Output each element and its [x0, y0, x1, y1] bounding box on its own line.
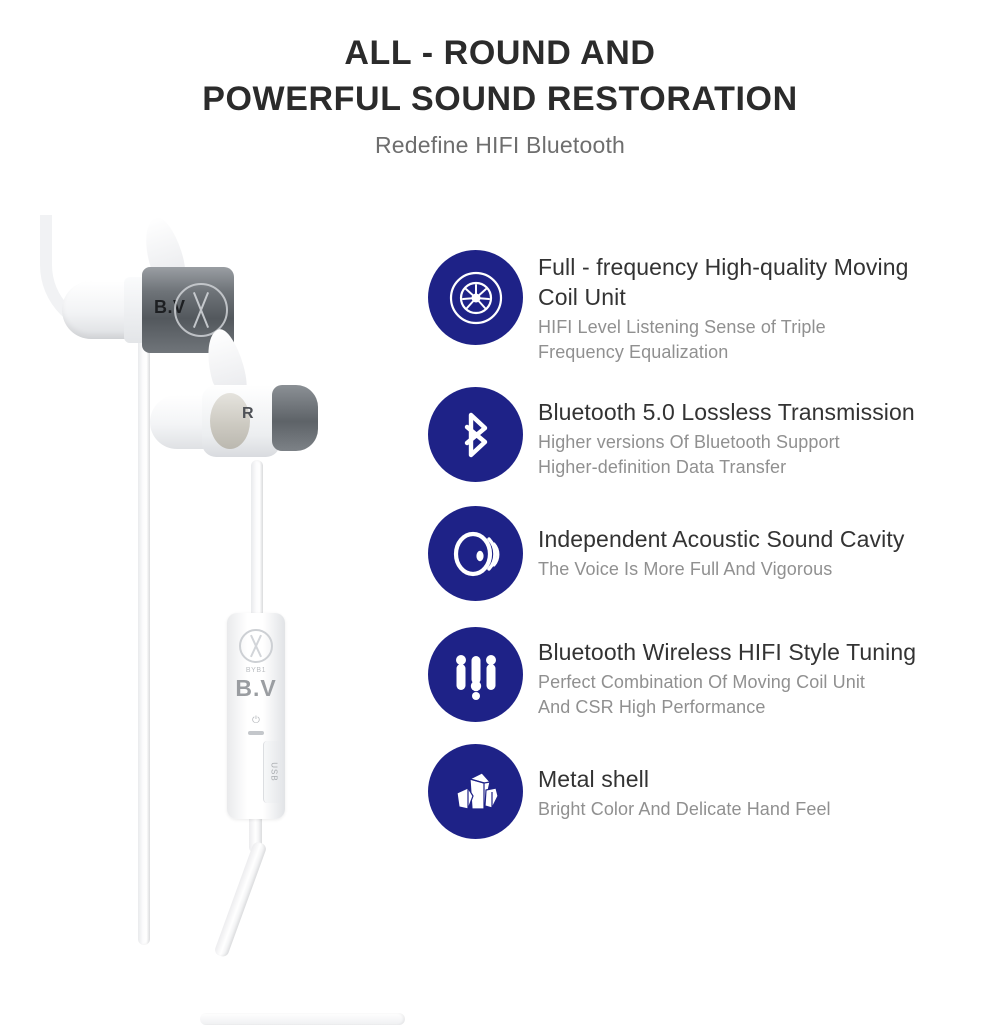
feature-badge [428, 506, 523, 601]
cable-left-segment [138, 305, 150, 945]
feature-texts: Independent Acoustic Sound Cavity The Vo… [523, 506, 904, 582]
feature-badge [428, 627, 523, 722]
cable-module-outlet [213, 841, 267, 959]
volume-bar-icon [248, 731, 264, 735]
right-earbud-cap [272, 385, 318, 451]
bluetooth-icon [447, 406, 505, 464]
feature-description: Perfect Combination Of Moving Coil Unit … [538, 670, 916, 720]
inline-control-module: BYB1 B.V ⏻ USB [227, 613, 285, 819]
feature-badge [428, 387, 523, 482]
module-brand-logo-icon [239, 629, 273, 663]
feature-item: Bluetooth Wireless HIFI Style Tuning Per… [428, 627, 988, 722]
feature-texts: Metal shell Bright Color And Delicate Ha… [523, 744, 831, 822]
feature-texts: Bluetooth 5.0 Lossless Transmission High… [523, 387, 915, 480]
page-subtitle: Redefine HIFI Bluetooth [0, 132, 1000, 159]
feature-title: Independent Acoustic Sound Cavity [538, 524, 904, 554]
equalizer-sliders-icon [447, 646, 505, 704]
feature-item: Bluetooth 5.0 Lossless Transmission High… [428, 387, 988, 482]
feature-title: Full - frequency High-quality Moving Coi… [538, 252, 908, 312]
usb-port-cover: USB [263, 741, 283, 803]
feature-title: Bluetooth 5.0 Lossless Transmission [538, 397, 915, 427]
feature-title: Metal shell [538, 764, 831, 794]
moving-coil-driver-icon [446, 268, 506, 328]
feature-texts: Full - frequency High-quality Moving Coi… [523, 250, 908, 365]
usb-port-label: USB [269, 762, 278, 781]
feature-item: Full - frequency High-quality Moving Coi… [428, 250, 988, 365]
product-infographic-page: ALL - ROUND AND POWERFUL SOUND RESTORATI… [0, 0, 1000, 1026]
feature-item: Metal shell Bright Color And Delicate Ha… [428, 744, 988, 839]
crystal-facets-icon [446, 762, 506, 822]
module-model-text: BYB1 [246, 667, 266, 674]
feature-description: HIFI Level Listening Sense of Triple Fre… [538, 315, 908, 365]
right-earbud: R [150, 351, 330, 471]
power-button-icon: ⏻ [252, 715, 260, 726]
feature-item: Independent Acoustic Sound Cavity The Vo… [428, 506, 988, 601]
cable-right-segment [251, 460, 263, 618]
feature-texts: Bluetooth Wireless HIFI Style Tuning Per… [523, 627, 916, 720]
module-brand-text: B.V [235, 675, 276, 702]
feature-badge [428, 744, 523, 839]
feature-badge [428, 250, 523, 345]
product-photo: B.V R BYB1 B.V ⏻ USB [40, 215, 420, 1005]
header: ALL - ROUND AND POWERFUL SOUND RESTORATI… [0, 30, 1000, 159]
feature-description: Bright Color And Delicate Hand Feel [538, 797, 831, 822]
feature-list: Full - frequency High-quality Moving Coi… [428, 250, 988, 865]
page-title-line-1: ALL - ROUND AND [0, 30, 1000, 76]
feature-title: Bluetooth Wireless HIFI Style Tuning [538, 637, 916, 667]
feature-description: The Voice Is More Full And Vigorous [538, 557, 904, 582]
page-title-line-2: POWERFUL SOUND RESTORATION [0, 76, 1000, 122]
right-earbud-channel-label: R [242, 405, 254, 423]
sound-cavity-speaker-icon [445, 523, 507, 585]
cable-bottom-segment [200, 1013, 405, 1025]
feature-description: Higher versions Of Bluetooth Support Hig… [538, 430, 915, 480]
